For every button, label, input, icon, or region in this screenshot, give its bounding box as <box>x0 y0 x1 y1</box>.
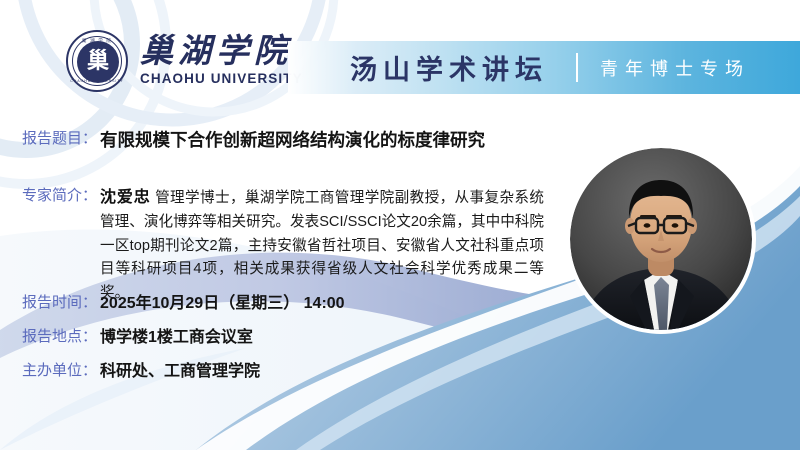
report-title-label: 报告题目： <box>22 128 97 150</box>
university-seal-icon: 巢 湖 学 院 巢 CHAOHU UNIVERSITY <box>66 30 128 92</box>
speaker-bio-row: 专家简介： 沈爱忠 管理学博士，巢湖学院工商管理学院副教授，从事复杂系统管理、演… <box>22 185 544 305</box>
report-host-label: 主办单位： <box>22 360 97 382</box>
report-host-row: 主办单位： 科研处、工商管理学院 <box>22 360 260 383</box>
report-time-row: 报告时间： 2025年10月29日（星期三） 14:00 <box>22 292 345 315</box>
speaker-portrait-image <box>570 148 752 330</box>
forum-banner: 汤山学术讲坛 青年博士专场 <box>288 41 800 94</box>
poster-header: 巢 湖 学 院 巢 CHAOHU UNIVERSITY 巢湖学院 CHAOHU … <box>0 0 800 118</box>
report-place-label: 报告地点： <box>22 326 97 348</box>
forum-banner-divider <box>576 53 578 82</box>
seal-bottom-text: CHAOHU UNIVERSITY <box>68 80 126 84</box>
forum-banner-title: 汤山学术讲坛 <box>350 48 548 87</box>
report-place-value: 博学楼1楼工商会议室 <box>100 326 253 349</box>
report-host-value: 科研处、工商管理学院 <box>100 360 260 383</box>
report-title-row: 报告题目： 有限规模下合作创新超网络结构演化的标度律研究 <box>22 128 485 153</box>
university-name-cn: 巢湖学院 <box>140 35 303 70</box>
report-time-value: 2025年10月29日（星期三） 14:00 <box>100 292 345 315</box>
speaker-bio-body: 沈爱忠 管理学博士，巢湖学院工商管理学院副教授，从事复杂系统管理、演化博弈等相关… <box>100 185 544 305</box>
poster-canvas: 巢 湖 学 院 巢 CHAOHU UNIVERSITY 巢湖学院 CHAOHU … <box>0 0 800 450</box>
speaker-portrait <box>570 148 752 330</box>
university-name-en: CHAOHU UNIVERSITY <box>140 71 303 87</box>
university-name-block: 巢湖学院 CHAOHU UNIVERSITY <box>140 35 303 88</box>
report-place-row: 报告地点： 博学楼1楼工商会议室 <box>22 326 253 349</box>
report-title-value: 有限规模下合作创新超网络结构演化的标度律研究 <box>100 128 485 153</box>
university-logo: 巢 湖 学 院 巢 CHAOHU UNIVERSITY 巢湖学院 CHAOHU … <box>66 30 303 92</box>
speaker-name: 沈爱忠 <box>100 189 151 206</box>
speaker-bio-label: 专家简介： <box>22 185 97 207</box>
forum-banner-subtitle: 青年博士专场 <box>600 55 750 81</box>
seal-emblem: 巢 <box>77 41 119 83</box>
report-time-label: 报告时间： <box>22 292 97 314</box>
seal-top-text: 巢 湖 学 院 <box>68 39 126 44</box>
seal-mark-glyph: 巢 <box>87 50 109 72</box>
speaker-bio-text: 管理学博士，巢湖学院工商管理学院副教授，从事复杂系统管理、演化博弈等相关研究。发… <box>100 190 544 301</box>
